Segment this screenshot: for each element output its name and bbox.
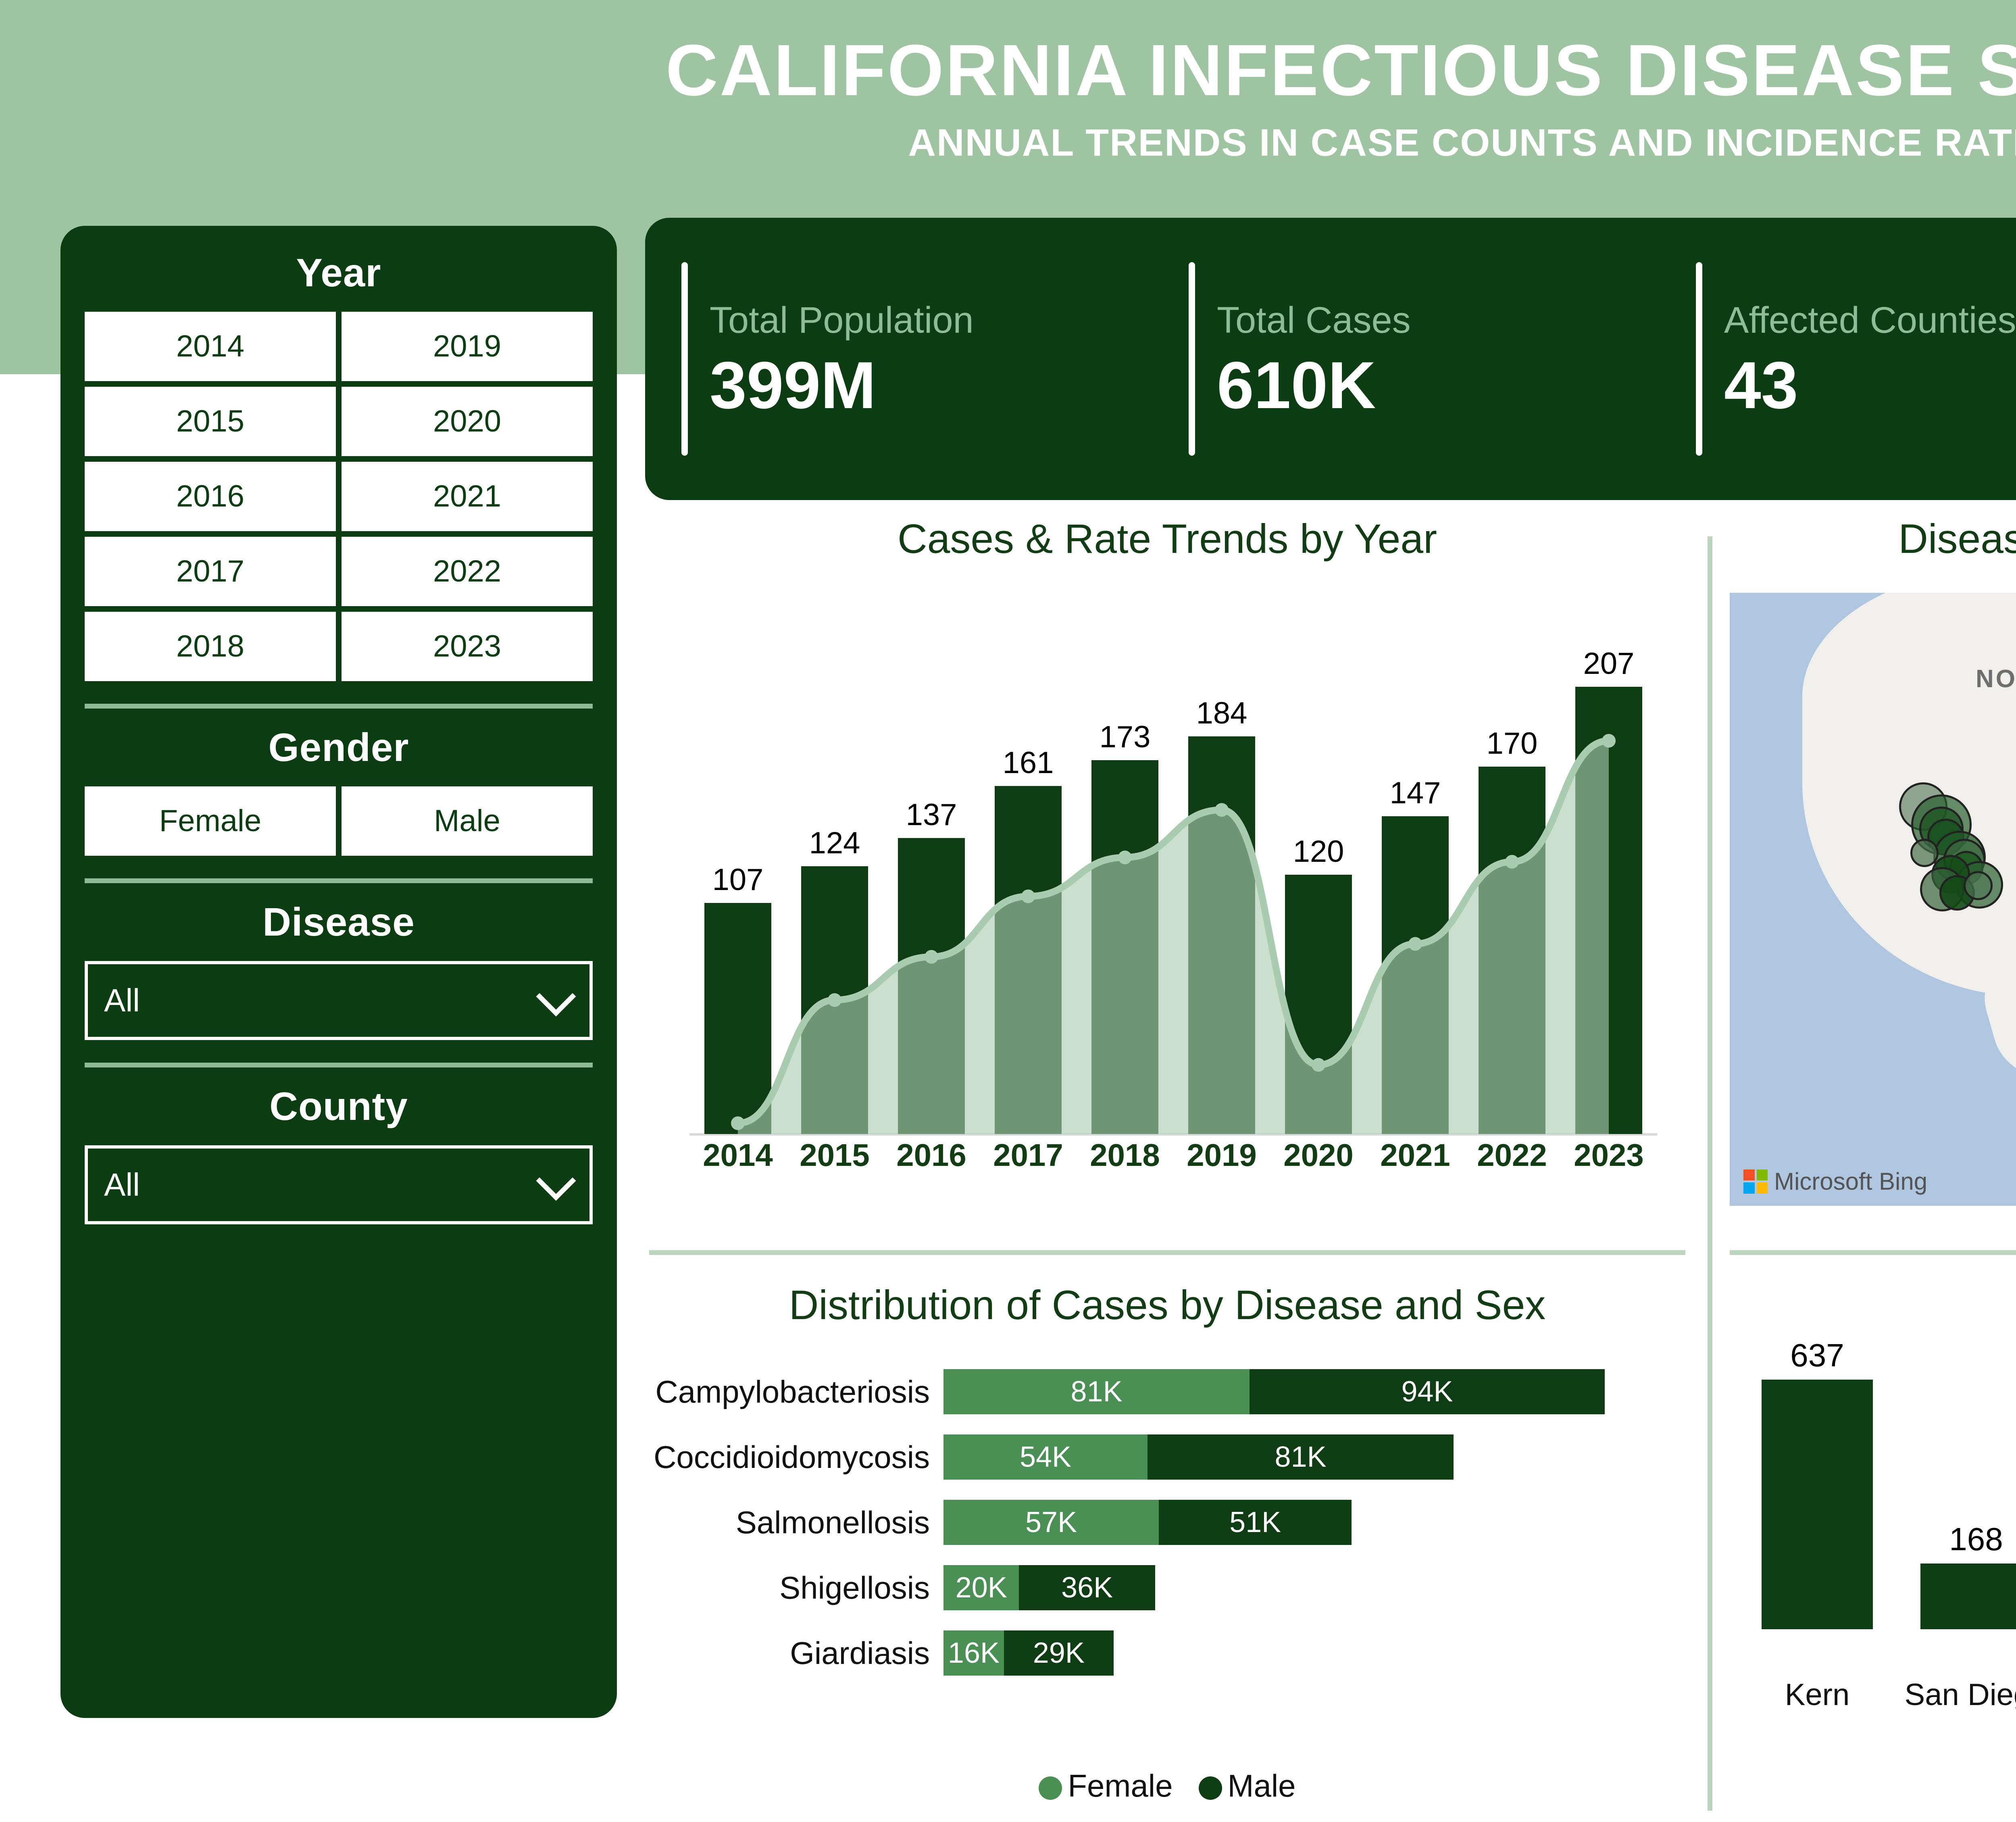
legend-label-male: Male	[1228, 1768, 1296, 1803]
year-chip-2018[interactable]: 2018	[85, 612, 336, 681]
incidence-rate-overlay	[689, 617, 1657, 1174]
stacked-row-label: Campylobacteriosis	[645, 1374, 943, 1410]
county-bar-value: 637	[1790, 1337, 1844, 1374]
rate-marker-2020[interactable]	[1312, 1058, 1325, 1072]
gender-filter-label: Gender	[85, 725, 593, 770]
combo-chart-title: Cases & Rate Trends by Year	[645, 516, 1689, 561]
segment-male[interactable]: 81K	[1148, 1434, 1454, 1480]
segment-female[interactable]: 20K	[943, 1565, 1019, 1610]
kpi-label: Total Cases	[1217, 299, 1660, 342]
stacked-chart-title: Distribution of Cases by Disease and Sex	[645, 1282, 1689, 1328]
stacked-row-campylobacteriosis[interactable]: Campylobacteriosis81K94K	[645, 1359, 1689, 1424]
chevron-down-icon	[536, 977, 576, 1017]
year-chip-2014[interactable]: 2014	[85, 312, 336, 381]
segment-male[interactable]: 36K	[1019, 1565, 1155, 1610]
county-bar-rect	[1762, 1380, 1873, 1629]
segment-female[interactable]: 81K	[943, 1369, 1250, 1414]
map-bubble-cluster[interactable]	[1910, 839, 1939, 867]
county-bar-label: Kern	[1738, 1676, 1897, 1714]
year-chip-2020[interactable]: 2020	[342, 387, 593, 456]
stacked-row-track: 81K94K	[943, 1369, 1605, 1414]
county-bar-rect	[1920, 1564, 2016, 1629]
segment-male[interactable]: 29K	[1004, 1630, 1114, 1676]
stacked-row-label: Salmonellosis	[645, 1504, 943, 1541]
gender-filter-row[interactable]: Female Male	[85, 786, 593, 856]
stacked-row-giardiasis[interactable]: Giardiasis16K29K	[645, 1620, 1689, 1686]
rate-marker-2014[interactable]	[731, 1116, 745, 1130]
stacked-row-label: Shigellosis	[645, 1570, 943, 1606]
disease-map-panel: Disease Cases by County NORTH AMERICA At…	[1722, 516, 2016, 1242]
county-bar-value: 168	[1949, 1521, 2003, 1558]
rate-marker-2022[interactable]	[1505, 855, 1519, 869]
segment-female[interactable]: 57K	[943, 1500, 1159, 1545]
year-filter-label: Year	[85, 250, 593, 296]
year-filter-grid[interactable]: 2014 2019 2015 2020 2016 2021 2017 2022 …	[85, 312, 593, 681]
stacked-row-salmonellosis[interactable]: Salmonellosis57K51K	[645, 1490, 1689, 1555]
gender-chip-male[interactable]: Male	[342, 786, 593, 856]
county-bar-kern[interactable]: 637	[1762, 1380, 1873, 1629]
legend-label-female: Female	[1068, 1768, 1173, 1803]
page-title: CALIFORNIA INFECTIOUS DISEASE SURVEILLAN…	[0, 32, 2016, 108]
stacked-row-track: 57K51K	[943, 1500, 1352, 1545]
cases-rate-trends-panel: Cases & Rate Trends by Year 107201412420…	[645, 516, 1689, 1242]
stacked-row-label: Coccidioidomycosis	[645, 1439, 943, 1476]
stacked-row-coccidioidomycosis[interactable]: Coccidioidomycosis54K81K	[645, 1424, 1689, 1490]
bing-logo: Microsoft Bing	[1743, 1167, 1927, 1195]
segment-female[interactable]: 16K	[943, 1630, 1004, 1676]
map-bubble-cluster[interactable]	[1964, 871, 1993, 900]
county-bar-label: San Diego	[1897, 1676, 2016, 1714]
rate-marker-2016[interactable]	[925, 950, 938, 964]
year-chip-2021[interactable]: 2021	[342, 462, 593, 531]
divider-horizontal-map	[1730, 1250, 2016, 1255]
year-chip-2015[interactable]: 2015	[85, 387, 336, 456]
disease-filter-label: Disease	[85, 899, 593, 945]
disease-sex-distribution-panel: Distribution of Cases by Disease and Sex…	[645, 1282, 1689, 1822]
rate-marker-2021[interactable]	[1408, 937, 1422, 951]
disease-select-value: All	[104, 982, 140, 1018]
kpi-affected-counties: Affected Counties 43	[1660, 262, 2016, 456]
chevron-down-icon	[536, 1161, 576, 1201]
map-canvas[interactable]: NORTH AMERICA Atlantic O	[1730, 593, 2016, 1206]
county-bar-san-diego[interactable]: 168	[1920, 1564, 2016, 1629]
divider-vertical-left	[1708, 536, 1712, 1811]
county-select-value: All	[104, 1167, 140, 1203]
divider-horizontal-combo	[649, 1250, 1685, 1255]
divider-gender	[85, 704, 593, 709]
stacked-bar-rows[interactable]: Campylobacteriosis81K94KCoccidioidomycos…	[645, 1359, 1689, 1686]
stacked-row-track: 16K29K	[943, 1630, 1114, 1676]
legend-item-female[interactable]: Female	[1039, 1768, 1173, 1804]
rate-marker-2015[interactable]	[828, 993, 841, 1007]
rate-marker-2019[interactable]	[1215, 803, 1229, 817]
year-chip-2019[interactable]: 2019	[342, 312, 593, 381]
bing-squares-icon	[1743, 1169, 1768, 1194]
filter-sidebar: Year 2014 2019 2015 2020 2016 2021 2017 …	[60, 226, 617, 1718]
page-subtitle: ANNUAL TRENDS IN CASE COUNTS AND INCIDEN…	[0, 121, 2016, 165]
map-continent-label: NORTH AMERICA	[1976, 665, 2016, 693]
divider-disease	[85, 878, 593, 883]
rate-marker-2017[interactable]	[1021, 890, 1035, 903]
kpi-label: Total Population	[710, 299, 1152, 342]
year-chip-2022[interactable]: 2022	[342, 537, 593, 606]
stacked-row-label: Giardiasis	[645, 1635, 943, 1672]
combo-chart-plot[interactable]: 1072014124201513720161612017173201818420…	[689, 617, 1657, 1174]
rate-marker-2018[interactable]	[1118, 851, 1132, 864]
year-chip-2017[interactable]: 2017	[85, 537, 336, 606]
kpi-label: Affected Counties	[1724, 299, 2016, 342]
segment-male[interactable]: 94K	[1250, 1369, 1605, 1414]
stacked-row-track: 20K36K	[943, 1565, 1155, 1610]
kpi-value: 43	[1724, 352, 2016, 419]
map-provider-label: Microsoft Bing	[1774, 1167, 1927, 1195]
rate-area	[738, 741, 1609, 1134]
map-title: Disease Cases by County	[1722, 516, 2016, 561]
kpi-total-population: Total Population 399M	[645, 262, 1152, 456]
county-select[interactable]: All	[85, 1145, 593, 1224]
divider-county	[85, 1063, 593, 1067]
kpi-total-cases: Total Cases 610K	[1152, 262, 1660, 456]
kpi-value: 399M	[710, 352, 1152, 419]
legend-item-male[interactable]: Male	[1199, 1768, 1296, 1804]
legend-swatch-female-icon	[1039, 1776, 1062, 1800]
year-chip-2016[interactable]: 2016	[85, 462, 336, 531]
county-filter-label: County	[85, 1084, 593, 1129]
disease-select[interactable]: All	[85, 961, 593, 1040]
kpi-accent-bar	[681, 262, 688, 456]
kpi-accent-bar	[1696, 262, 1702, 456]
gender-chip-female[interactable]: Female	[85, 786, 336, 856]
top-counties-panel: 637Kern168San Diego155California129Los A…	[1722, 1282, 2016, 1822]
kpi-bar: Total Population 399M Total Cases 610K A…	[645, 218, 2016, 500]
legend-swatch-male-icon	[1199, 1776, 1222, 1800]
stacked-row-shigellosis[interactable]: Shigellosis20K36K	[645, 1555, 1689, 1620]
segment-male[interactable]: 51K	[1159, 1500, 1352, 1545]
county-bar-plot[interactable]: 637Kern168San Diego155California129Los A…	[1738, 1307, 2016, 1762]
rate-marker-2023[interactable]	[1602, 734, 1616, 748]
kpi-accent-bar	[1189, 262, 1195, 456]
stacked-legend[interactable]: Female Male	[645, 1768, 1689, 1804]
kpi-value: 610K	[1217, 352, 1660, 419]
segment-female[interactable]: 54K	[943, 1434, 1148, 1480]
stacked-row-track: 54K81K	[943, 1434, 1454, 1480]
year-chip-2023[interactable]: 2023	[342, 612, 593, 681]
